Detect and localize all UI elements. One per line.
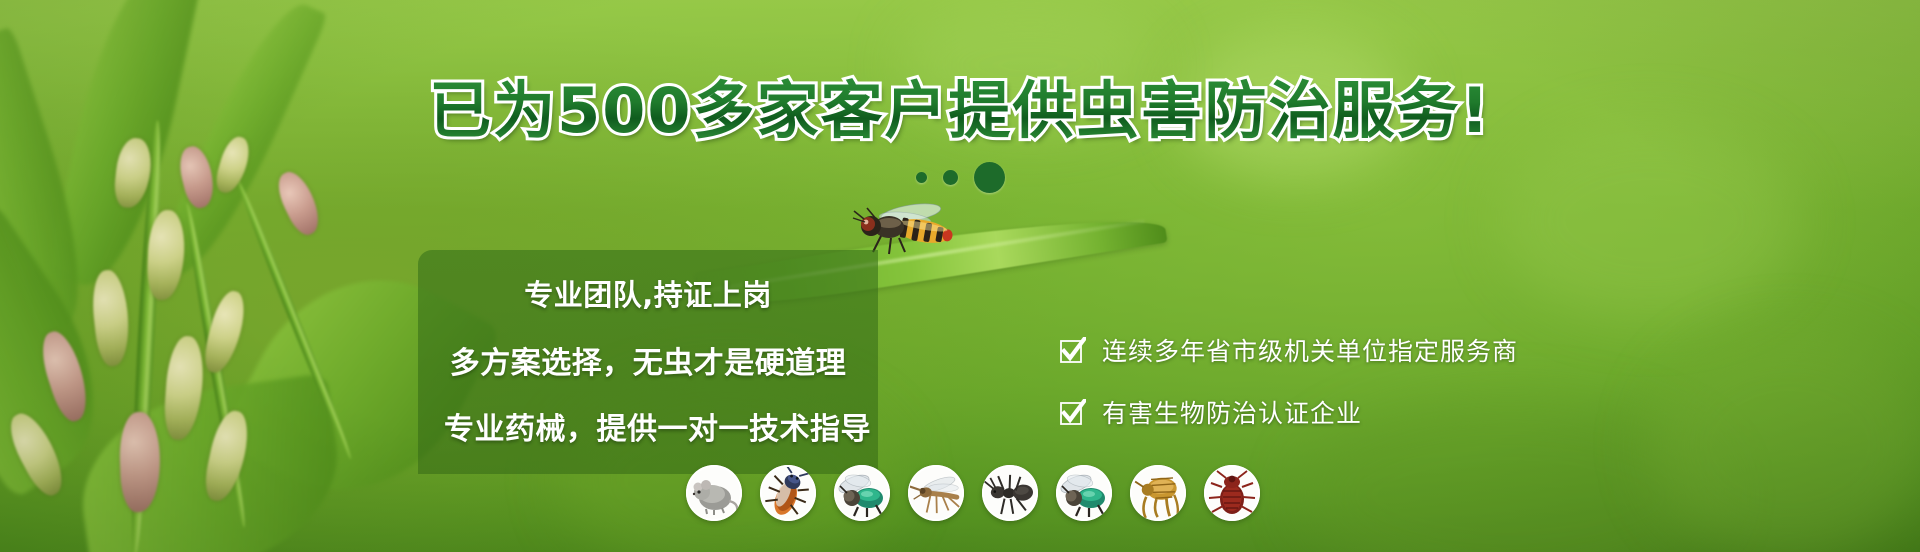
selling-point-line-3: 专业药械，提供一对一技术指导 bbox=[444, 404, 852, 448]
fly-icon[interactable] bbox=[834, 465, 890, 521]
list-item: 有害生物防治认证企业 bbox=[1060, 394, 1518, 430]
fly-icon[interactable] bbox=[1056, 465, 1112, 521]
list-item-label: 连续多年省市级机关单位指定服务商 bbox=[1102, 332, 1518, 368]
selling-point-line-2: 多方案选择，无虫才是硬道理 bbox=[444, 338, 852, 382]
check-mark-icon bbox=[1060, 337, 1086, 363]
list-item-label: 有害生物防治认证企业 bbox=[1102, 394, 1362, 430]
mouse-icon[interactable] bbox=[686, 465, 742, 521]
decor-dot-medium-icon bbox=[943, 170, 958, 185]
decor-dots bbox=[0, 162, 1920, 193]
decor-dot-large-icon bbox=[974, 162, 1005, 193]
flea-icon[interactable] bbox=[1130, 465, 1186, 521]
page-title-text: 已为500多家客户提供虫害防治服务! bbox=[429, 78, 1491, 143]
check-mark-icon bbox=[1060, 399, 1086, 425]
mosquito-icon[interactable] bbox=[908, 465, 964, 521]
pest-icon-row bbox=[686, 465, 1260, 521]
bedbug-icon[interactable] bbox=[1204, 465, 1260, 521]
cockroach-icon[interactable] bbox=[760, 465, 816, 521]
list-item: 连续多年省市级机关单位指定服务商 bbox=[1060, 332, 1518, 368]
ant-icon[interactable] bbox=[982, 465, 1038, 521]
credentials-list: 连续多年省市级机关单位指定服务商 有害生物防治认证企业 bbox=[1060, 332, 1518, 456]
selling-point-line-1: 专业团队,持证上岗 bbox=[444, 272, 852, 314]
selling-points-panel: 专业团队,持证上岗 多方案选择，无虫才是硬道理 专业药械，提供一对一技术指导 bbox=[418, 250, 878, 474]
pest-control-banner: 已为500多家客户提供虫害防治服务! 已为500多家客户提供虫害防治服务! 专业… bbox=[0, 0, 1920, 552]
decor-dot-small-icon bbox=[916, 172, 927, 183]
